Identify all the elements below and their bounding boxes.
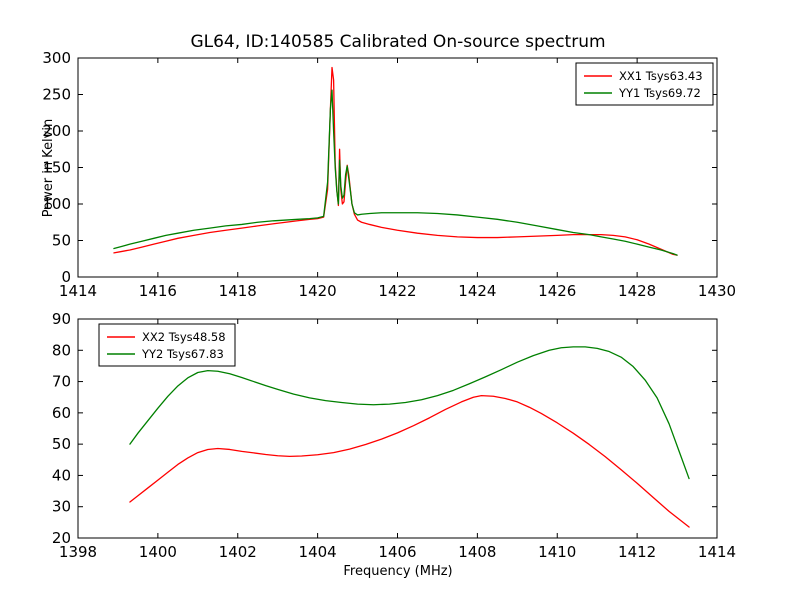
y-tick-label: 50 (52, 232, 71, 250)
matplotlib-figure: GL64, ID:140585 Calibrated On-source spe… (0, 0, 800, 600)
y-tick-label: 60 (52, 404, 71, 422)
bottom-legend-label-yy2: YY2 Tsys67.83 (141, 347, 224, 361)
x-tick-label: 1420 (299, 282, 337, 300)
x-tick-label: 1406 (378, 543, 416, 561)
y-tick-label: 20 (52, 529, 71, 547)
y-tick-label: 70 (52, 373, 71, 391)
y-tick-label: 80 (52, 341, 71, 359)
bottom-legend: XX2 Tsys48.58 YY2 Tsys67.83 (99, 324, 235, 366)
x-tick-label: 1400 (139, 543, 177, 561)
x-tick-label: 1408 (458, 543, 496, 561)
x-tick-label: 1422 (378, 282, 416, 300)
subplot-top: GL64, ID:140585 Calibrated On-source spe… (41, 32, 736, 300)
x-tick-label: 1430 (698, 282, 736, 300)
bottom-legend-label-xx2: XX2 Tsys48.58 (142, 330, 226, 344)
figure-canvas: GL64, ID:140585 Calibrated On-source spe… (0, 0, 800, 600)
x-tick-label: 1428 (618, 282, 656, 300)
y-tick-label: 300 (42, 49, 71, 67)
y-tick-label: 30 (52, 498, 71, 516)
page-title: GL64, ID:140585 Calibrated On-source spe… (190, 32, 605, 52)
x-tick-label: 1418 (219, 282, 257, 300)
y-tick-label: 0 (61, 268, 71, 286)
x-tick-label: 1412 (618, 543, 656, 561)
y-tick-label: 50 (52, 435, 71, 453)
top-legend-label-xx1: XX1 Tsys63.43 (619, 69, 703, 83)
bottom-x-axis-label: Frequency (MHz) (343, 564, 452, 579)
x-tick-label: 1426 (538, 282, 576, 300)
x-tick-label: 1424 (458, 282, 496, 300)
x-tick-label: 1416 (139, 282, 177, 300)
x-tick-label: 1414 (698, 543, 736, 561)
y-tick-label: 250 (42, 86, 71, 104)
top-y-axis-label: Power in Kelvin (41, 119, 56, 217)
top-legend-label-yy1: YY1 Tsys69.72 (618, 86, 701, 100)
x-tick-label: 1404 (299, 543, 337, 561)
top-legend: XX1 Tsys63.43 YY1 Tsys69.72 (576, 63, 713, 105)
y-tick-label: 40 (52, 466, 71, 484)
x-tick-label: 1410 (538, 543, 576, 561)
y-tick-label: 90 (52, 310, 71, 328)
x-tick-label: 1402 (219, 543, 257, 561)
